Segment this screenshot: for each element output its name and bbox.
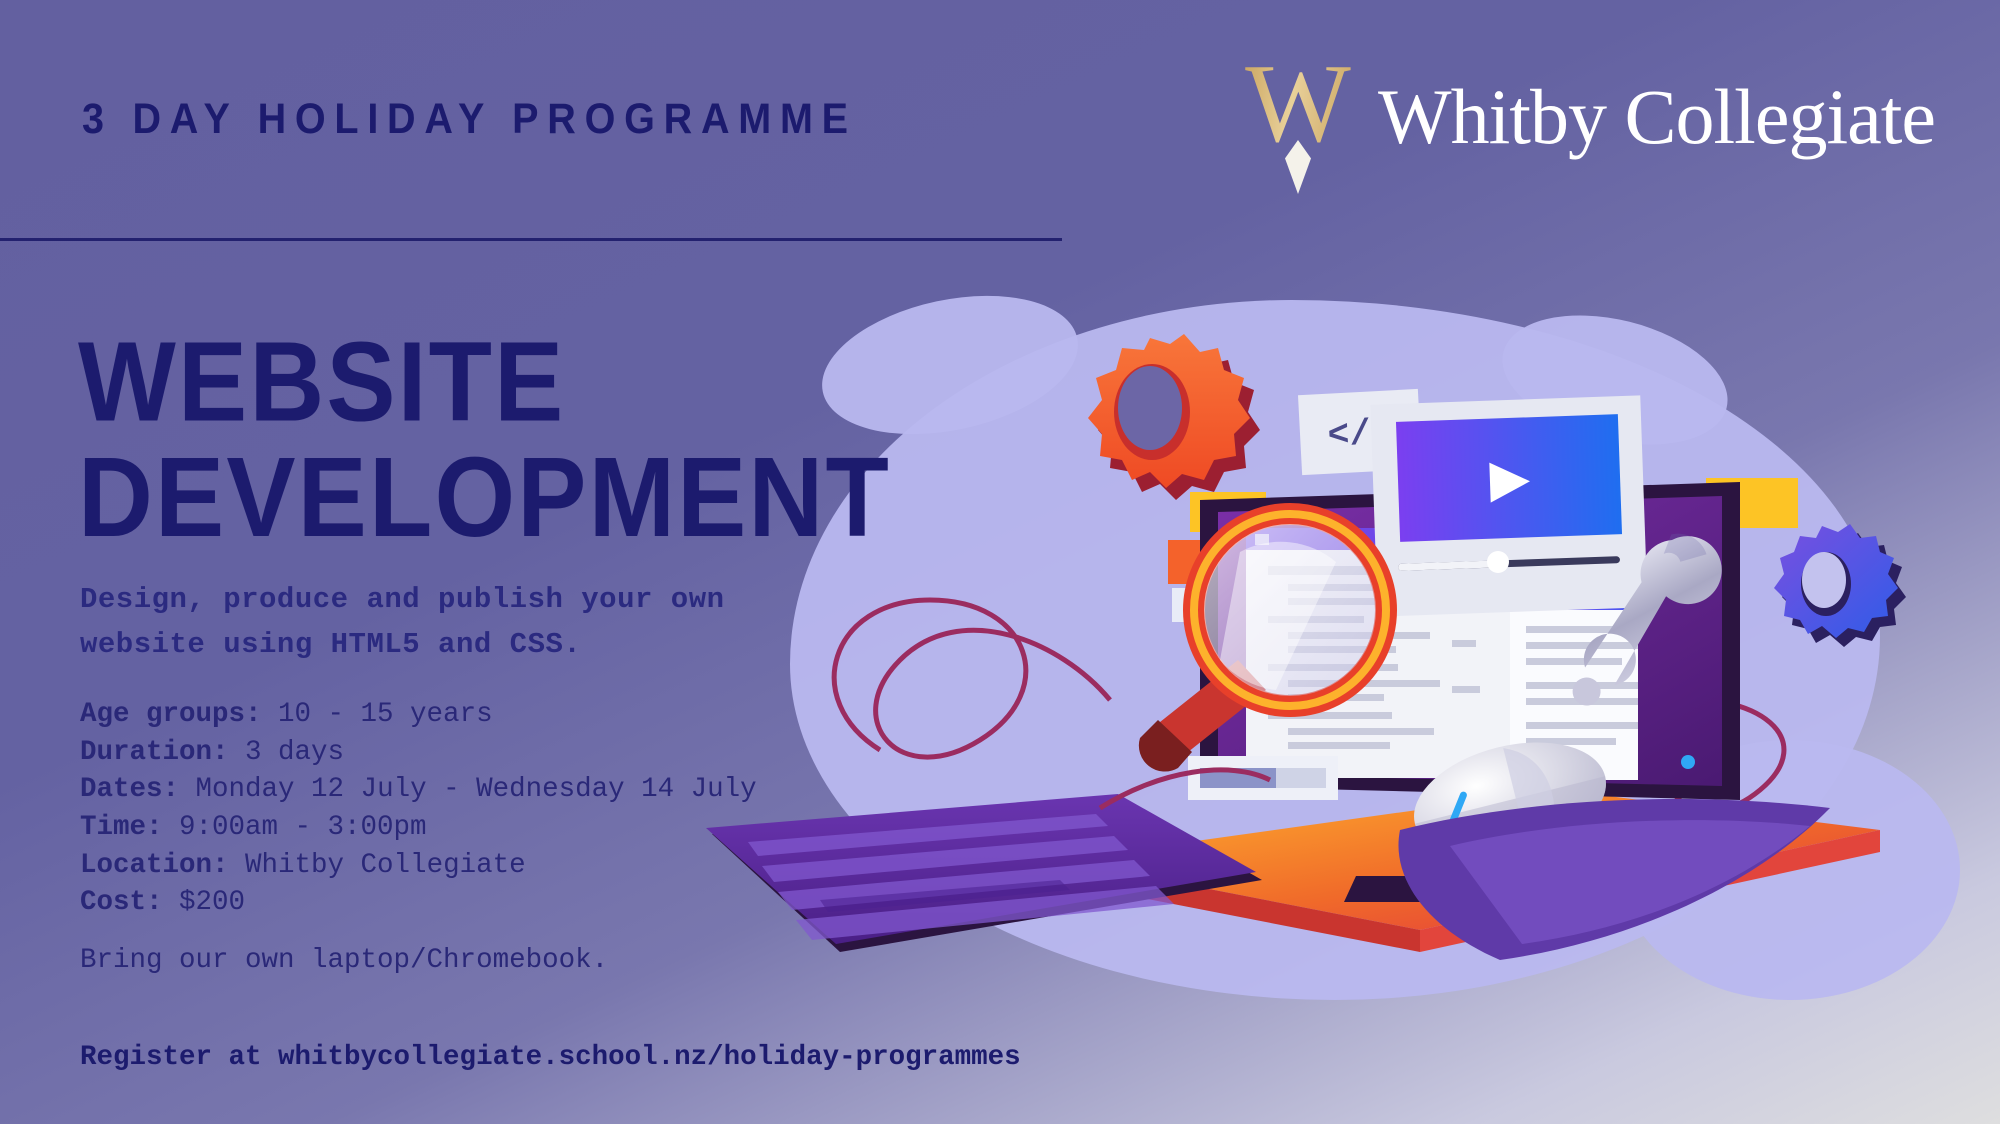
detail-row-age-groups: Age groups: 10 - 15 years <box>80 696 757 734</box>
detail-row-location: Location: Whitby Collegiate <box>80 847 757 885</box>
logo-wordmark: Whitby Collegiate <box>1378 78 1935 156</box>
video-player-card-graphic <box>1370 395 1647 616</box>
purple-gear-graphic <box>1774 524 1906 647</box>
detail-value: 3 days <box>229 737 345 768</box>
course-details-list: Age groups: 10 - 15 years Duration: 3 da… <box>80 696 757 922</box>
registration-link[interactable]: Register at whitbycollegiate.school.nz/h… <box>80 1042 1021 1073</box>
detail-row-cost: Cost: $200 <box>80 884 757 922</box>
detail-row-time: Time: 9:00am - 3:00pm <box>80 809 757 847</box>
bring-device-note: Bring our own laptop/Chromebook. <box>80 945 608 976</box>
mat-cloth-graphic <box>1398 799 1830 960</box>
detail-value: Whitby Collegiate <box>229 850 526 881</box>
course-tagline: Design, produce and publish your own web… <box>80 578 725 668</box>
poster-header: 3 DAY HOLIDAY PROGRAMME W Whitby Collegi… <box>0 0 2000 240</box>
detail-label: Location: <box>80 850 229 881</box>
detail-row-duration: Duration: 3 days <box>80 734 757 772</box>
detail-row-dates: Dates: Monday 12 July - Wednesday 14 Jul… <box>80 771 757 809</box>
detail-value: 9:00am - 3:00pm <box>163 812 427 843</box>
keyboard-graphic <box>706 794 1262 952</box>
detail-label: Dates: <box>80 774 179 805</box>
programme-kicker: 3 DAY HOLIDAY PROGRAMME <box>82 95 857 144</box>
orange-gear-graphic <box>1088 334 1260 500</box>
poster: </> <box>0 0 2000 1124</box>
page-title: WEBSITE DEVELOPMENT <box>78 325 891 556</box>
whitby-collegiate-logo: W Whitby Collegiate <box>1240 58 1935 176</box>
detail-label: Age groups: <box>80 699 262 730</box>
detail-value: 10 - 15 years <box>262 699 493 730</box>
cable-graphic <box>834 600 1110 757</box>
header-divider <box>0 238 1062 241</box>
detail-value: $200 <box>163 887 246 918</box>
detail-label: Duration: <box>80 737 229 768</box>
detail-value: Monday 12 July - Wednesday 14 July <box>179 774 757 805</box>
whitby-w-emblem-icon: W <box>1240 58 1356 176</box>
detail-label: Time: <box>80 812 163 843</box>
detail-label: Cost: <box>80 887 163 918</box>
